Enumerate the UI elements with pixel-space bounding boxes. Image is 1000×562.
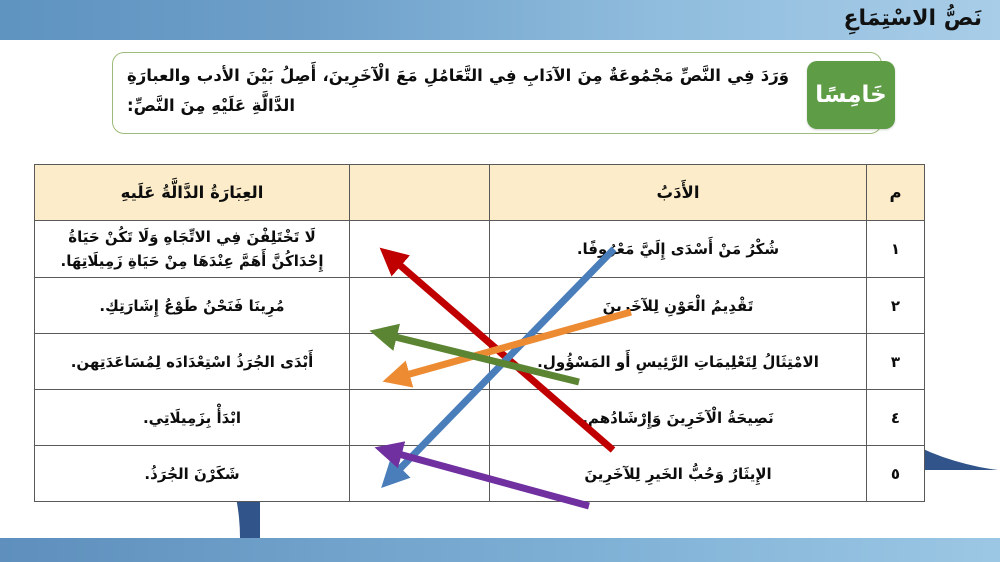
table-row: ٥ الإِيثَارُ وَحُبُّ الخَيرِ لِلآخَرِينَ… (35, 446, 925, 502)
question-card: وَرَدَ فِي النَّصِّ مَجْمُوعَةٌ مِنَ الآ… (112, 52, 882, 134)
question-text: وَرَدَ فِي النَّصِّ مَجْمُوعَةٌ مِنَ الآ… (127, 61, 789, 121)
slide-content: نَصُّ الاسْتِمَاعِ وَرَدَ فِي النَّصِّ م… (0, 0, 1000, 562)
cell-adab[interactable]: الامْتِثَالُ لِتَعْلِيمَاتِ الرَّئِيسِ أ… (490, 334, 867, 390)
cell-gap[interactable] (350, 390, 490, 446)
cell-gap[interactable] (350, 334, 490, 390)
cell-phrase[interactable]: أَبْدَى الجُرَذُ اسْتِعْدَادَه لِمُسَاعَ… (35, 334, 350, 390)
cell-phrase[interactable]: ابْدَأْ بِزَمِيلَاتِي. (35, 390, 350, 446)
cell-number: ١ (867, 221, 925, 278)
cell-adab[interactable]: نَصِيحَةُ الْآخَرِينَ وَإِرْشَادُهم. (490, 390, 867, 446)
cell-gap[interactable] (350, 446, 490, 502)
cell-number: ٣ (867, 334, 925, 390)
cell-number: ٢ (867, 278, 925, 334)
column-header-number: م (867, 165, 925, 221)
table-row: ١ شُكْرُ مَنْ أَسْدَى إِلَيَّ مَعْرُوفًا… (35, 221, 925, 278)
column-header-adab: الأَدَبُ (490, 165, 867, 221)
table-header-row: م الأَدَبُ العِبَارَةُ الدَّالَّةُ عَلَي… (35, 165, 925, 221)
page-title: نَصُّ الاسْتِمَاعِ (843, 2, 982, 36)
cell-adab[interactable]: تَقْدِيمُ الْعَوْنِ لِلآخَرِينَ (490, 278, 867, 334)
table-body: ١ شُكْرُ مَنْ أَسْدَى إِلَيَّ مَعْرُوفًا… (35, 221, 925, 502)
cell-phrase[interactable]: شَكَرْنَ الجُرَذُ. (35, 446, 350, 502)
table-header: م الأَدَبُ العِبَارَةُ الدَّالَّةُ عَلَي… (35, 165, 925, 221)
cell-phrase[interactable]: مُرِينَا فَنَحْنُ طَوْعُ إِشَارَتِكِ. (35, 278, 350, 334)
cell-adab[interactable]: شُكْرُ مَنْ أَسْدَى إِلَيَّ مَعْرُوفًا. (490, 221, 867, 278)
cell-gap[interactable] (350, 278, 490, 334)
matching-table: م الأَدَبُ العِبَارَةُ الدَّالَّةُ عَلَي… (34, 164, 925, 502)
table-row: ٣ الامْتِثَالُ لِتَعْلِيمَاتِ الرَّئِيسِ… (35, 334, 925, 390)
table-row: ٤ نَصِيحَةُ الْآخَرِينَ وَإِرْشَادُهم. ا… (35, 390, 925, 446)
cell-adab[interactable]: الإِيثَارُ وَحُبُّ الخَيرِ لِلآخَرِينَ (490, 446, 867, 502)
cell-gap[interactable] (350, 221, 490, 278)
column-header-phrase: العِبَارَةُ الدَّالَّةُ عَلَيهِ (35, 165, 350, 221)
column-header-gap (350, 165, 490, 221)
cell-number: ٤ (867, 390, 925, 446)
cell-phrase[interactable]: لَا تَخْتَلِفْنَ فِي الاتِّجَاهِ وَلَا ت… (35, 221, 350, 278)
cell-number: ٥ (867, 446, 925, 502)
question-order-badge: خَامِسًا (807, 61, 895, 129)
table-row: ٢ تَقْدِيمُ الْعَوْنِ لِلآخَرِينَ مُرِين… (35, 278, 925, 334)
slide-root: نَصُّ الاسْتِمَاعِ وَرَدَ فِي النَّصِّ م… (0, 0, 1000, 562)
